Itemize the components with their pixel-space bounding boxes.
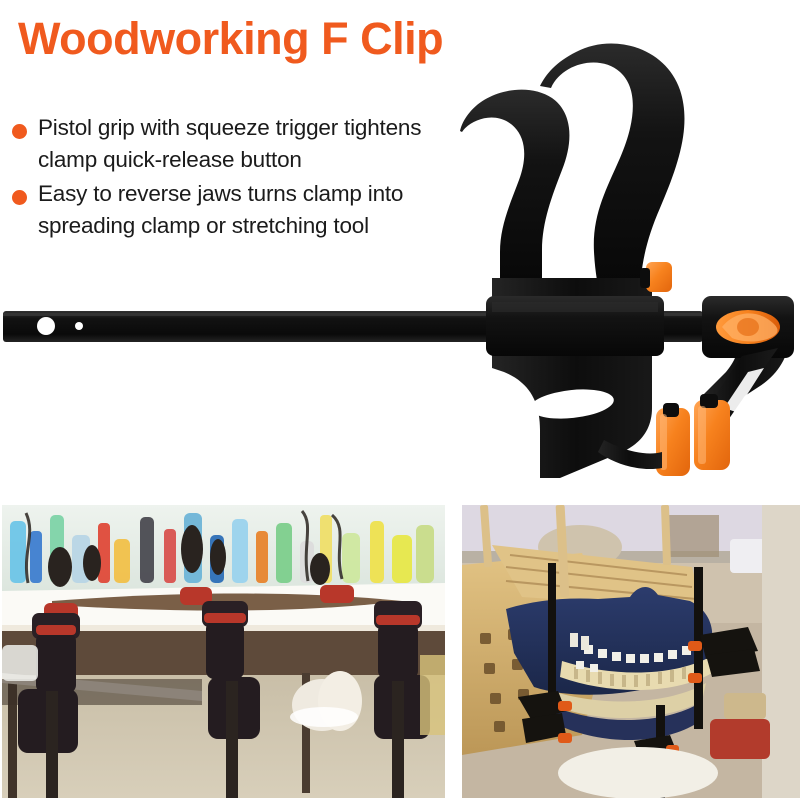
bar-hole-small bbox=[75, 322, 83, 330]
jaw-pad-right bbox=[694, 394, 730, 470]
model-ship-clamping-photo bbox=[462, 505, 800, 798]
product-illustration bbox=[0, 0, 800, 500]
squeeze-trigger bbox=[460, 90, 569, 292]
quick-release-button[interactable] bbox=[640, 262, 672, 292]
product-marketing-image: Woodworking F Clip Pistol grip with sque… bbox=[0, 0, 800, 800]
swivel-knob[interactable] bbox=[716, 310, 780, 344]
bar-hole-large bbox=[37, 317, 55, 335]
clamp-body bbox=[486, 278, 664, 478]
workshop-table-clamping-photo bbox=[2, 505, 445, 798]
